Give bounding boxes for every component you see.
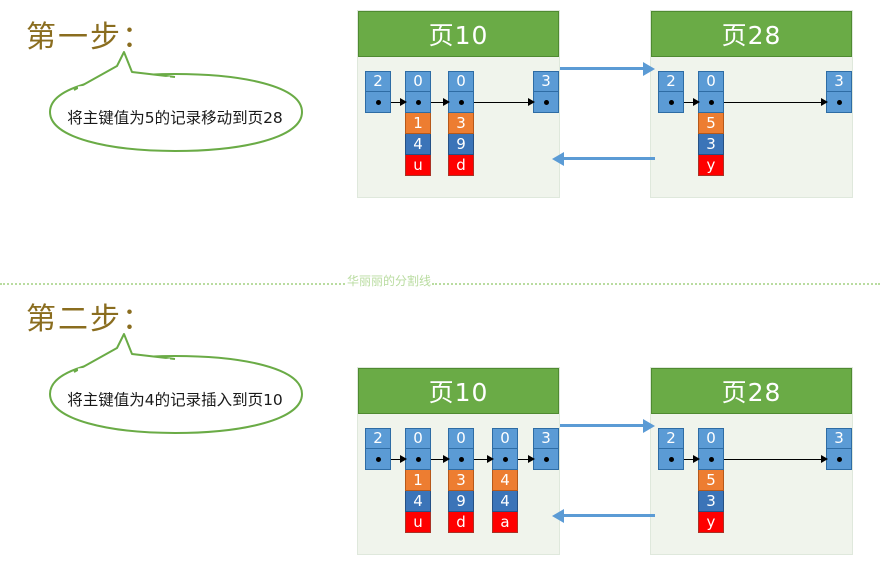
callout-bubble-1: 将主键值为5的记录移动到页28 <box>20 50 330 165</box>
page-body-10-step1: 2 0 1 4 u 0 3 9 d 3 <box>358 57 559 197</box>
record-node[interactable]: 0 3 9 d <box>448 71 474 176</box>
record-node[interactable]: 0 5 3 y <box>698 71 724 176</box>
page-link-arrow-backward <box>552 509 655 523</box>
record-link-arrow <box>431 98 450 107</box>
record-link-arrow <box>474 455 494 464</box>
page-body-28-step1: 2 0 5 3 y 3 <box>651 57 852 197</box>
record-node[interactable]: 0 3 9 d <box>448 428 474 533</box>
record-key-cell: 0 <box>448 428 474 449</box>
pointer-dot-icon <box>416 100 421 105</box>
callout-bubble-2: 将主键值为4的记录插入到页10 <box>20 332 330 447</box>
record-key-cell: 0 <box>405 71 431 92</box>
record-char-cell: a <box>492 512 518 533</box>
record-pointer-cell <box>658 92 684 113</box>
pointer-dot-icon <box>416 457 421 462</box>
record-pointer-cell <box>365 92 391 113</box>
pointer-dot-icon <box>669 100 674 105</box>
record-pointer-cell <box>405 92 431 113</box>
page-box-10-step1: 页10 2 0 1 4 u 0 3 9 d <box>357 10 560 198</box>
record-value-cell: 4 <box>405 134 431 155</box>
callout-bubble-text-1: 将主键值为5的记录移动到页28 <box>20 50 330 165</box>
record-key-cell: 2 <box>365 71 391 92</box>
record-pointer-cell <box>658 449 684 470</box>
record-link-arrow <box>724 98 828 107</box>
record-value-cell: 9 <box>448 491 474 512</box>
record-key-cell: 0 <box>698 71 724 92</box>
record-node[interactable]: 2 <box>365 428 391 470</box>
record-pointer-cell <box>533 92 559 113</box>
record-pointer-cell <box>533 449 559 470</box>
page-link-arrow-backward <box>552 152 655 166</box>
record-pointer-cell <box>492 449 518 470</box>
record-link-arrow <box>474 98 535 107</box>
record-node[interactable]: 0 1 4 u <box>405 71 431 176</box>
record-pointer-cell <box>365 449 391 470</box>
record-value-cell: 4 <box>405 491 431 512</box>
pointer-dot-icon <box>376 457 381 462</box>
record-value-cell: 9 <box>448 134 474 155</box>
record-pointer-cell <box>448 449 474 470</box>
record-value-cell: 3 <box>698 134 724 155</box>
pointer-dot-icon <box>376 100 381 105</box>
pointer-dot-icon <box>709 100 714 105</box>
record-node[interactable]: 0 4 4 a <box>492 428 518 533</box>
page-header-10-step1: 页10 <box>358 11 559 57</box>
page-header-10-step2: 页10 <box>358 368 559 414</box>
record-link-arrow <box>684 455 700 464</box>
record-pk-cell: 3 <box>448 113 474 134</box>
pointer-dot-icon <box>459 457 464 462</box>
record-key-cell: 2 <box>658 428 684 449</box>
record-key-cell: 0 <box>405 428 431 449</box>
pointer-dot-icon <box>544 457 549 462</box>
record-pk-cell: 5 <box>698 470 724 491</box>
record-key-cell: 3 <box>533 71 559 92</box>
pointer-dot-icon <box>837 100 842 105</box>
record-key-cell: 0 <box>492 428 518 449</box>
pointer-dot-icon <box>709 457 714 462</box>
page-box-28-step2: 页28 2 0 5 3 y 3 <box>650 367 853 555</box>
record-node[interactable]: 3 <box>533 428 559 470</box>
record-value-cell: 4 <box>492 491 518 512</box>
record-link-arrow <box>518 455 535 464</box>
record-node[interactable]: 2 <box>365 71 391 113</box>
record-node[interactable]: 0 1 4 u <box>405 428 431 533</box>
record-pk-cell: 3 <box>448 470 474 491</box>
record-pointer-cell <box>405 449 431 470</box>
callout-bubble-text-2: 将主键值为4的记录插入到页10 <box>20 332 330 447</box>
record-link-arrow <box>684 98 700 107</box>
step-section-2: 第二步： 将主键值为4的记录插入到页10 页10 2 0 1 4 u 0 <box>0 282 880 565</box>
record-link-arrow <box>724 455 828 464</box>
page-header-28-step1: 页28 <box>651 11 852 57</box>
pointer-dot-icon <box>544 100 549 105</box>
record-char-cell: y <box>698 155 724 176</box>
pointer-dot-icon <box>837 457 842 462</box>
pointer-dot-icon <box>503 457 508 462</box>
record-node[interactable]: 2 <box>658 428 684 470</box>
page-body-10-step2: 2 0 1 4 u 0 3 9 d 0 4 4 a <box>358 414 559 554</box>
record-node[interactable]: 3 <box>826 71 852 113</box>
record-key-cell: 3 <box>826 428 852 449</box>
page-link-arrow-forward <box>560 62 655 76</box>
record-link-arrow <box>391 455 407 464</box>
pointer-dot-icon <box>459 100 464 105</box>
record-node[interactable]: 0 5 3 y <box>698 428 724 533</box>
record-pk-cell: 5 <box>698 113 724 134</box>
page-box-28-step1: 页28 2 0 5 3 y 3 <box>650 10 853 198</box>
record-char-cell: u <box>405 512 431 533</box>
record-char-cell: d <box>448 155 474 176</box>
record-pointer-cell <box>698 449 724 470</box>
pointer-dot-icon <box>669 457 674 462</box>
record-node[interactable]: 2 <box>658 71 684 113</box>
page-link-arrow-forward <box>560 419 655 433</box>
page-box-10-step2: 页10 2 0 1 4 u 0 3 9 d 0 <box>357 367 560 555</box>
record-pointer-cell <box>826 92 852 113</box>
record-pointer-cell <box>826 449 852 470</box>
record-key-cell: 0 <box>698 428 724 449</box>
record-key-cell: 3 <box>826 71 852 92</box>
record-char-cell: y <box>698 512 724 533</box>
record-node[interactable]: 3 <box>826 428 852 470</box>
record-key-cell: 3 <box>533 428 559 449</box>
step-section-1: 第一步： 将主键值为5的记录移动到页28 页10 2 0 1 4 u <box>0 0 880 283</box>
page-body-28-step2: 2 0 5 3 y 3 <box>651 414 852 554</box>
record-pk-cell: 1 <box>405 470 431 491</box>
record-pk-cell: 4 <box>492 470 518 491</box>
record-pk-cell: 1 <box>405 113 431 134</box>
record-char-cell: u <box>405 155 431 176</box>
record-pointer-cell <box>448 92 474 113</box>
record-key-cell: 2 <box>658 71 684 92</box>
record-char-cell: d <box>448 512 474 533</box>
record-key-cell: 2 <box>365 428 391 449</box>
record-key-cell: 0 <box>448 71 474 92</box>
record-link-arrow <box>391 98 407 107</box>
record-link-arrow <box>431 455 450 464</box>
record-value-cell: 3 <box>698 491 724 512</box>
record-node[interactable]: 3 <box>533 71 559 113</box>
page-header-28-step2: 页28 <box>651 368 852 414</box>
record-pointer-cell <box>698 92 724 113</box>
